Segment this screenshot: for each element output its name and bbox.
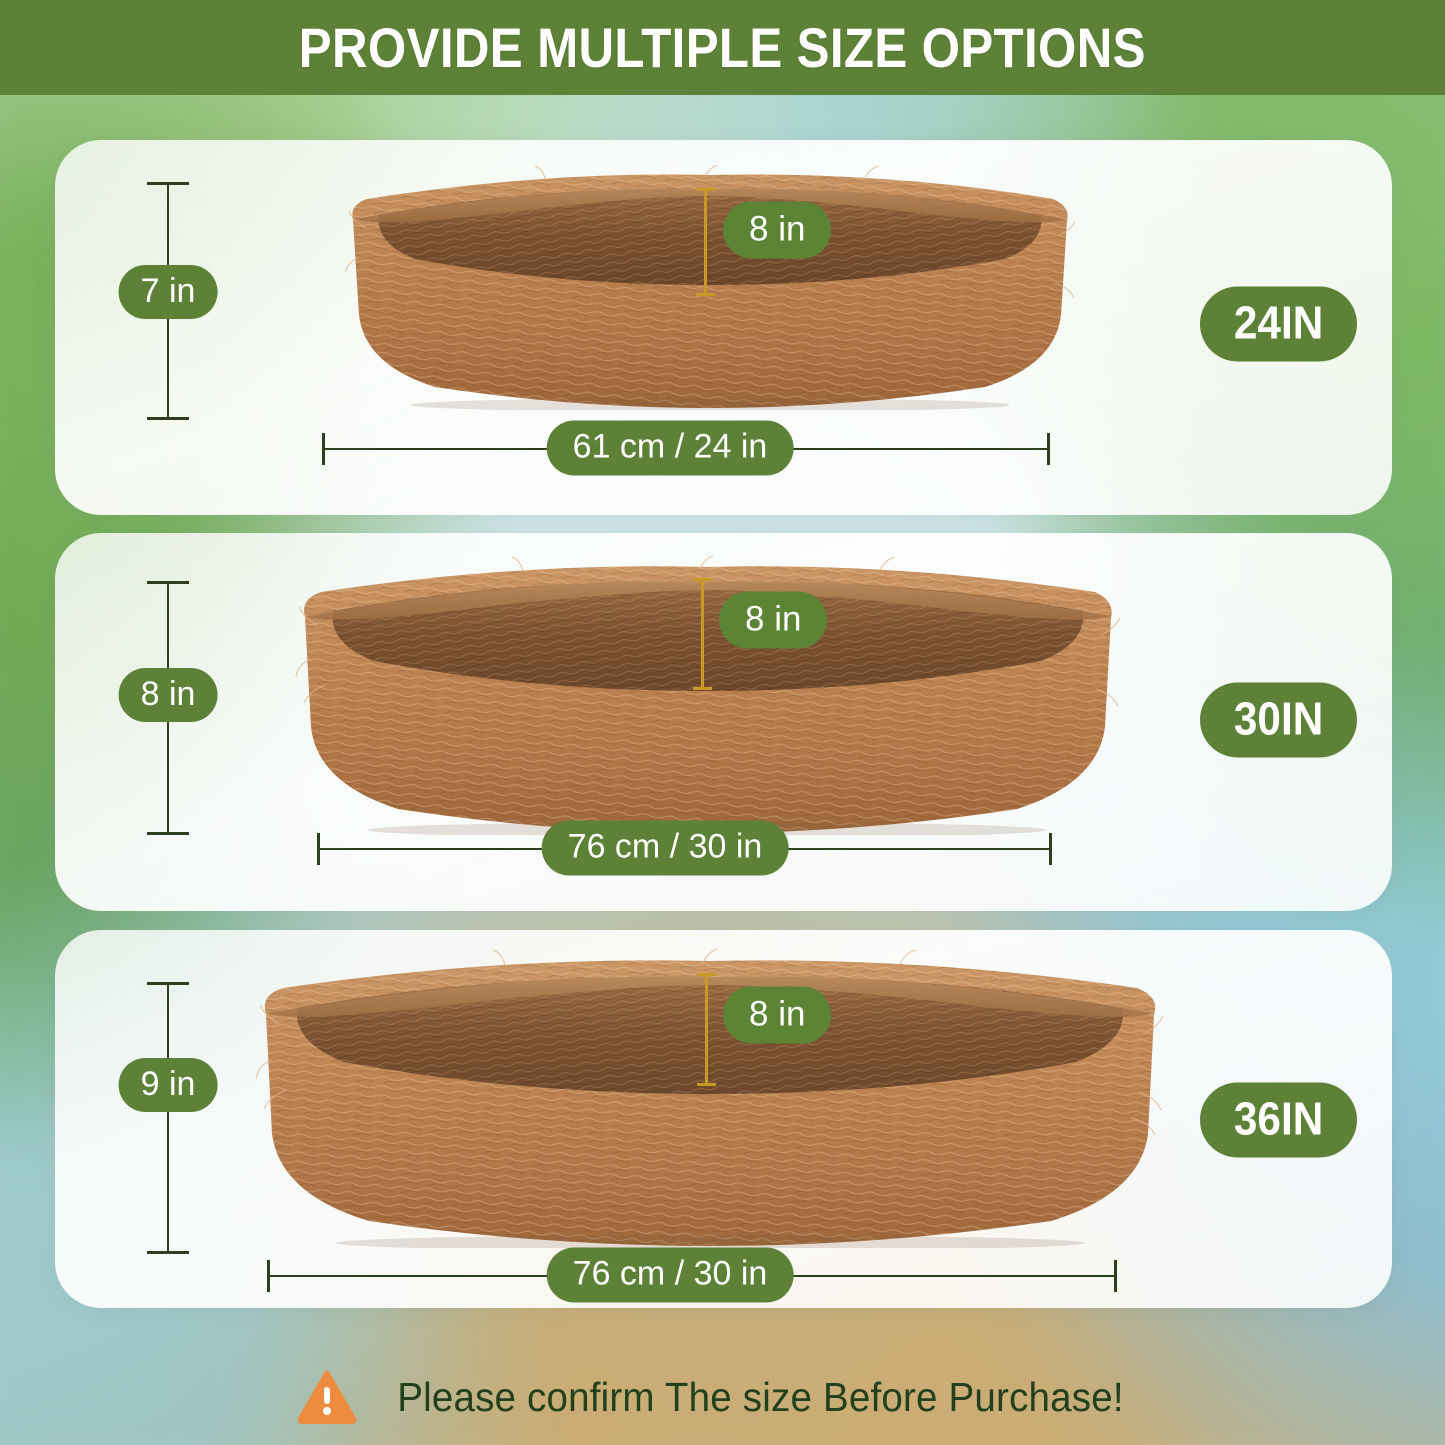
depth-dimension-line-24in	[704, 188, 707, 296]
product-card-30in: 8 in 8 in 76 cm / 30 in 30IN	[55, 533, 1392, 911]
coco-liner-illustration	[345, 165, 1075, 410]
purchase-note: Please confirm The size Before Purchase!	[0, 1370, 1445, 1424]
size-badge-30in-text: 30IN	[1234, 696, 1323, 742]
warning-triangle-icon	[298, 1370, 356, 1424]
coco-liner-image-36in	[255, 948, 1165, 1248]
depth-dimension-line-36in	[705, 973, 708, 1086]
height-label-30in: 8 in	[119, 668, 218, 722]
width-label-30in: 76 cm / 30 in	[542, 821, 789, 876]
size-badge-36in-text: 36IN	[1234, 1096, 1323, 1142]
header-banner: PROVIDE MULTIPLE SIZE OPTIONS	[0, 0, 1445, 95]
height-label-36in: 9 in	[119, 1058, 218, 1112]
depth-dimension-line-30in	[701, 578, 704, 690]
depth-label-36in: 8 in	[723, 987, 831, 1044]
infographic-stage: PROVIDE MULTIPLE SIZE OPTIONS	[0, 0, 1445, 1445]
width-label-36in: 76 cm / 30 in	[547, 1248, 794, 1303]
purchase-note-text: Please confirm The size Before Purchase!	[397, 1374, 1124, 1421]
size-badge-30in: 30IN	[1200, 683, 1357, 758]
width-label-24in: 61 cm / 24 in	[547, 421, 794, 476]
depth-label-30in: 8 in	[719, 592, 827, 649]
coco-liner-illustration	[295, 555, 1120, 835]
coco-liner-image-24in	[345, 165, 1075, 410]
page-title: PROVIDE MULTIPLE SIZE OPTIONS	[299, 15, 1146, 80]
depth-label-24in: 8 in	[723, 202, 831, 259]
product-card-36in: 9 in 8 in 76 cm / 30 in 36IN	[55, 930, 1392, 1308]
coco-liner-illustration	[255, 948, 1165, 1248]
coco-liner-image-30in	[295, 555, 1120, 835]
size-badge-36in: 36IN	[1200, 1083, 1357, 1158]
height-dimension-line-36in	[167, 982, 169, 1254]
size-badge-24in: 24IN	[1200, 287, 1357, 362]
product-card-24in: 7 in 8 in 61 cm / 24 in 24IN	[55, 140, 1392, 515]
height-label-24in: 7 in	[119, 265, 218, 319]
size-badge-24in-text: 24IN	[1234, 300, 1323, 346]
